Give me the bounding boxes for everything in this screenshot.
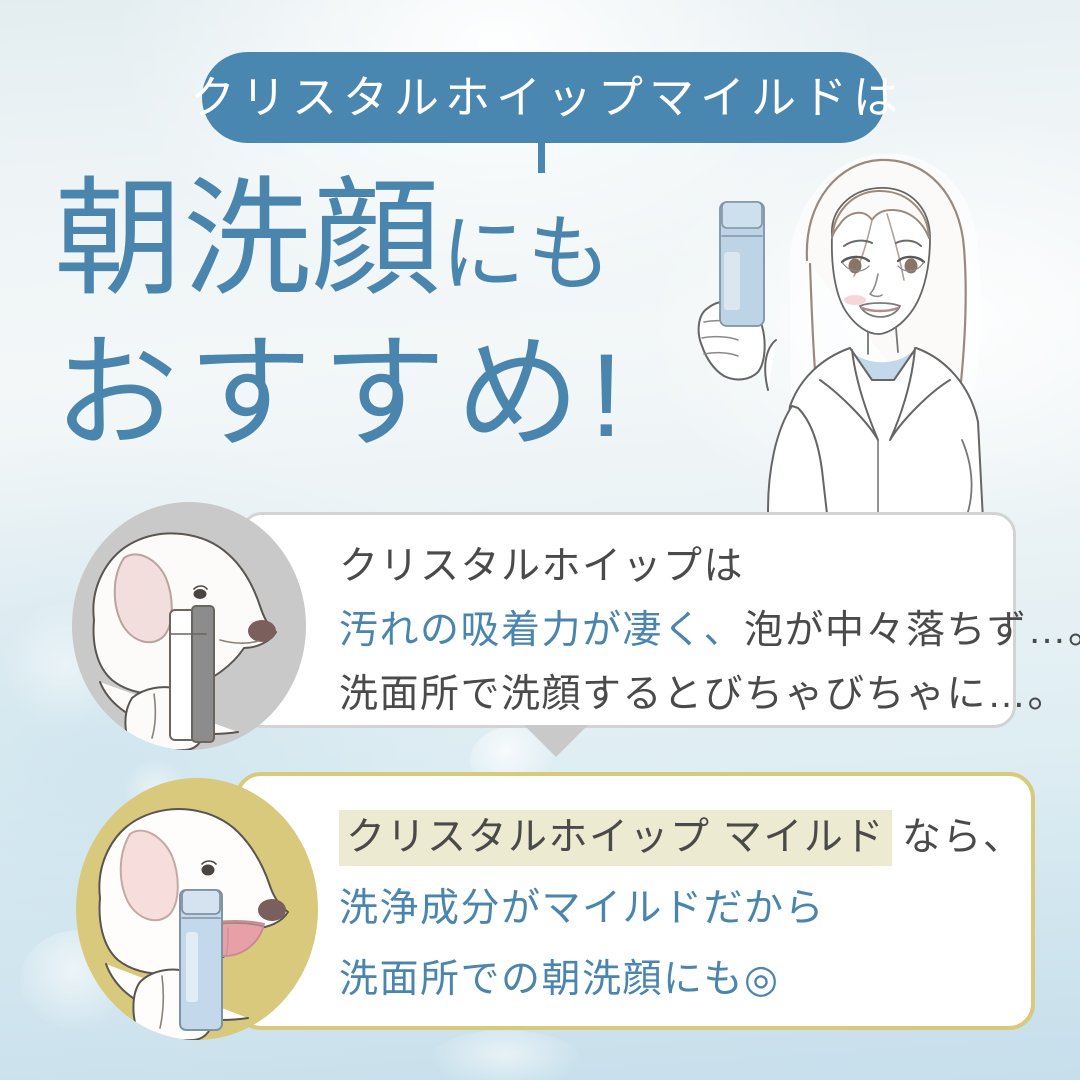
- bubble-solution-line-3: 洗面所での朝洗顔にも◎: [339, 960, 1023, 999]
- dog-avatar-happy: [76, 778, 318, 1040]
- poster-canvas: クリスタルホイップマイルドは 朝洗顔 にも おすすめ !: [0, 0, 1080, 1080]
- text-segment: 洗面所で洗顔するとびちゃびちゃに…。: [339, 673, 1068, 716]
- bubble-problem-text: クリスタルホイップは 汚れの吸着力が凄く、泡が中々落ちず…。 洗面所で洗顔すると…: [339, 547, 1080, 714]
- bubble-problem-line-2: 汚れの吸着力が凄く、泡が中々落ちず…。: [339, 611, 1080, 650]
- headline-suffix: にも: [441, 212, 613, 296]
- bubble-problem-line-1: クリスタルホイップは: [339, 547, 1080, 586]
- bubble-problem-line-3: 洗面所で洗顔するとびちゃびちゃに…。: [339, 675, 1080, 714]
- bokeh-decoration: [430, 1030, 580, 1080]
- text-segment-blue: 洗浄成分がマイルドだから: [339, 887, 825, 930]
- text-segment-blue: 洗面所での朝洗顔にも◎: [339, 958, 780, 1001]
- headline-line-2: おすすめ !: [54, 332, 754, 456]
- speech-bubble-tail: [524, 725, 588, 757]
- headline-badge-label: クリスタルホイップマイルドは: [184, 75, 904, 120]
- headline-badge: クリスタルホイップマイルドは: [202, 52, 886, 143]
- speech-bubble-solution: クリスタルホイップ マイルドなら、 洗浄成分がマイルドだから 洗面所での朝洗顔に…: [235, 772, 1035, 1030]
- woman-illustration: [672, 140, 1080, 540]
- headline-emphasis: 朝洗顔: [54, 176, 441, 304]
- page-title: 朝洗顔 にも おすすめ !: [54, 176, 754, 456]
- text-segment-blue: 汚れの吸着力が凄く、: [339, 609, 744, 652]
- badge-connector-line: [538, 143, 545, 173]
- headline-line-1: 朝洗顔 にも: [54, 176, 754, 304]
- bubble-solution-line-1: クリスタルホイップ マイルドなら、: [339, 818, 1023, 857]
- speech-bubble-problem: クリスタルホイップは 汚れの吸着力が凄く、泡が中々落ちず…。 洗面所で洗顔すると…: [240, 512, 1016, 728]
- text-segment: 泡が中々落ちず…。: [744, 609, 1080, 652]
- headline-emphasis-2: おすすめ: [54, 332, 590, 456]
- bubble-solution-line-2: 洗浄成分がマイルドだから: [339, 889, 1023, 928]
- dog-avatar-neutral: [72, 502, 306, 750]
- product-name-highlight: クリスタルホイップ マイルド: [339, 810, 892, 866]
- text-segment: なら、: [892, 816, 1024, 859]
- text-segment: クリスタルホイップは: [339, 545, 744, 588]
- bubble-solution-text: クリスタルホイップ マイルドなら、 洗浄成分がマイルドだから 洗面所での朝洗顔に…: [339, 818, 1023, 999]
- headline-exclamation: !: [590, 337, 623, 455]
